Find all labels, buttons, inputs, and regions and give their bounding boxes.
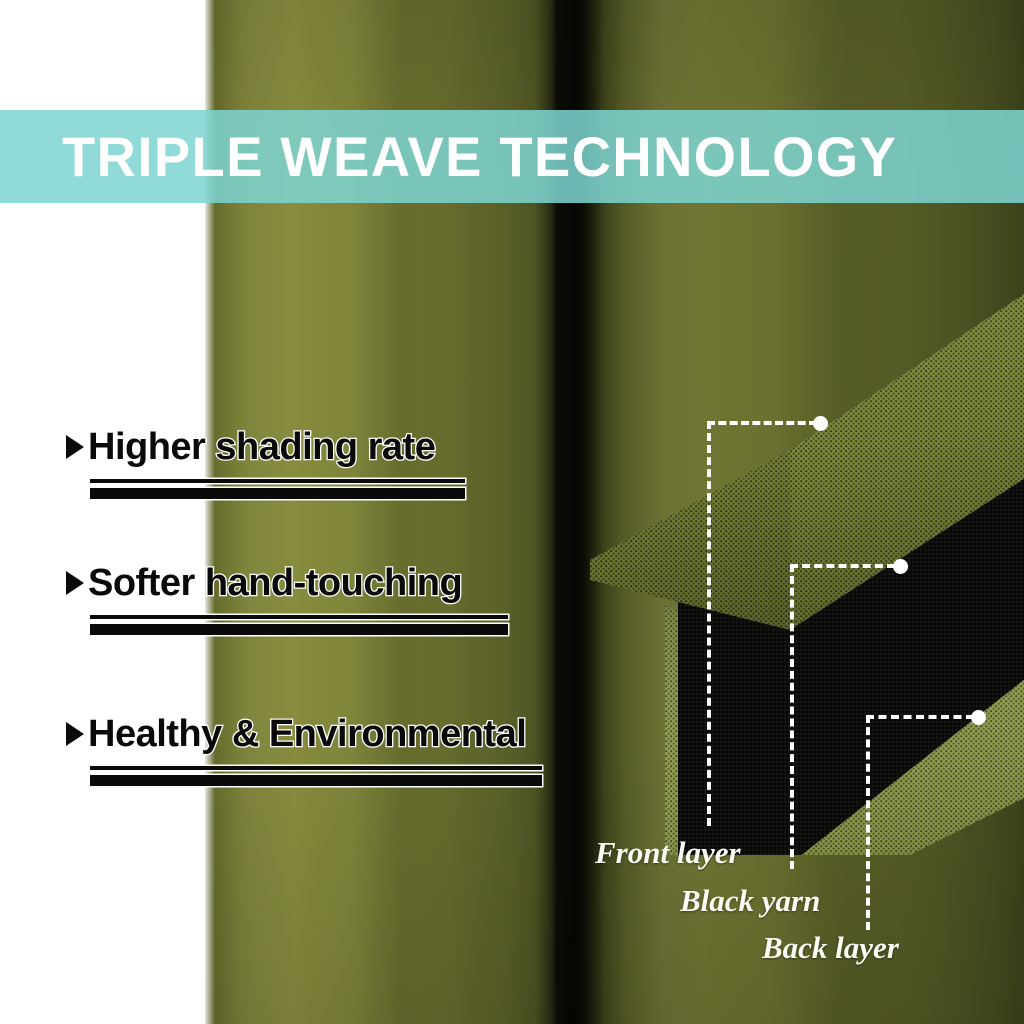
callout-line-back-layer-horizontal [866,715,974,719]
underline-thin-rule [90,615,508,619]
callout-line-back-layer-vertical [866,715,870,930]
underline-thick-rule [90,488,465,499]
underline-thick-rule [90,624,508,635]
feature-underline [90,615,508,635]
underline-thin-rule [90,479,465,483]
underline-thick-rule [90,775,542,786]
callout-dot-front-layer [813,416,828,431]
feature-label: Higher shading rate [88,426,435,469]
banner-title: TRIPLE WEAVE TECHNOLOGY [62,110,995,203]
callout-line-front-layer-horizontal [707,421,817,425]
feature-label: Softer hand-touching [88,562,462,605]
layer-label-back: Back layer [762,930,899,966]
feature-underline [90,766,542,786]
callout-line-front-layer-vertical [707,421,711,826]
triangle-bullet-icon [66,435,84,459]
feature-item-softer-hand-touching: Softer hand-touching [66,560,508,635]
feature-item-healthy-environmental: Healthy & Environmental [66,711,542,786]
triangle-bullet-icon [66,571,84,595]
product-infographic: TRIPLE WEAVE TECHNOLOGY Higher shading r… [0,0,1024,1024]
callout-dot-black-yarn [893,559,908,574]
callout-line-black-yarn-horizontal [790,564,895,568]
feature-label: Healthy & Environmental [88,713,526,756]
layer-label-black-yarn: Black yarn [680,883,820,919]
underline-thin-rule [90,766,542,770]
callout-line-black-yarn-vertical [790,564,794,869]
feature-item-higher-shading-rate: Higher shading rate [66,424,465,499]
layer-label-front: Front layer [595,835,741,871]
feature-underline [90,479,465,499]
triangle-bullet-icon [66,722,84,746]
callout-dot-back-layer [971,710,986,725]
